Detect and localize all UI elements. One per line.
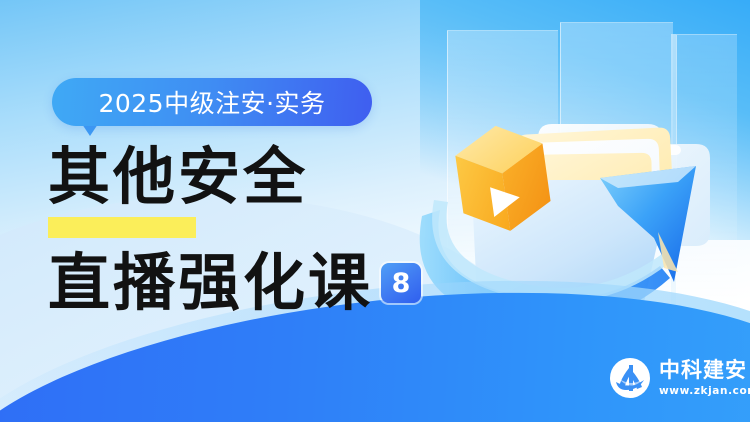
headline-line-2: 直播强化课: [48, 252, 373, 314]
headline-line-2-group: 直播强化课 8: [48, 252, 421, 314]
headline-line-1: 其他安全: [48, 146, 308, 208]
headline-highlight-bar: [48, 217, 196, 238]
brand-url: www.zkjan.com: [659, 385, 750, 397]
course-tag-pill: 2025中级注安·实务: [52, 78, 372, 126]
course-promo-banner: 2025中级注安·实务 其他安全 直播强化课 8 中科建安 www.zkjan.…: [0, 0, 750, 422]
zkjan-circle-logo-icon: [608, 356, 652, 400]
episode-number-badge: 8: [381, 263, 421, 303]
brand-name: 中科建安: [659, 359, 750, 381]
brand-logo-text: 中科建安 www.zkjan.com: [659, 359, 750, 396]
brand-logo[interactable]: 中科建安 www.zkjan.com: [608, 356, 750, 400]
course-tag-label: 2025中级注安·实务: [98, 84, 325, 120]
